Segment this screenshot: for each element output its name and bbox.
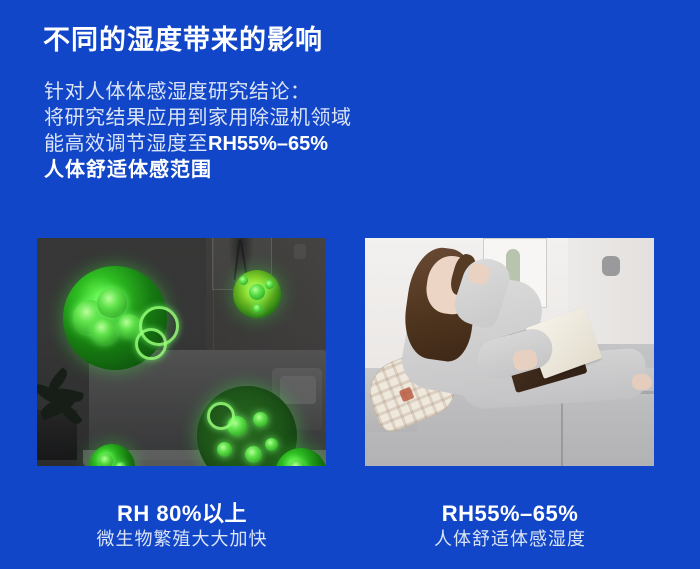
microbe-spore (265, 438, 278, 451)
intro-line-2: 将研究结果应用到家用除湿机领域 (44, 105, 352, 131)
caption-main-text: RH 80%以上 (32, 500, 332, 527)
microbe-ring (207, 402, 235, 430)
caption-comfort-humidity: RH55%–65% 人体舒适体感湿度 (360, 500, 660, 552)
caption-main-text: RH55%–65% (360, 500, 660, 527)
promo-poster: 不同的湿度带来的影响 针对人体体感湿度研究结论： 将研究结果应用到家用除湿机领域… (0, 0, 700, 569)
microbe-sphere-large (63, 266, 167, 370)
microbe-spore (217, 442, 232, 457)
intro-line-3: 能高效调节湿度至RH55%–65% (44, 131, 352, 157)
intro-humidity-range: RH55%–65% (208, 133, 328, 155)
wall-speaker-icon (602, 256, 620, 276)
microbe-spore (97, 288, 127, 318)
caption-high-humidity: RH 80%以上 微生物繁殖大大加快 (32, 500, 332, 552)
microbe-spore (115, 462, 126, 466)
microbe-spore (265, 280, 274, 289)
intro-line-1: 针对人体体感湿度研究结论： (44, 79, 352, 105)
caption-sub-text: 人体舒适体感湿度 (360, 527, 660, 552)
intro-line-3-prefix: 能高效调节湿度至 (44, 133, 208, 155)
microbe-spore (239, 276, 248, 285)
microbe-ring (135, 328, 167, 360)
microbe-spore (245, 446, 262, 463)
panel-image-comfort-humidity (365, 238, 654, 466)
pillow-motif (399, 387, 415, 403)
panel-image-high-humidity (37, 238, 326, 466)
microbe-spore (91, 318, 117, 344)
microbe-spore (253, 304, 262, 313)
intro-line-4: 人体舒适体感范围 (44, 157, 352, 183)
caption-sub-text: 微生物繁殖大大加快 (32, 527, 332, 552)
intro-paragraph: 针对人体体感湿度研究结论： 将研究结果应用到家用除湿机领域 能高效调节湿度至RH… (44, 79, 352, 183)
bright-room-scene (365, 238, 654, 466)
page-title: 不同的湿度带来的影响 (43, 18, 323, 57)
microbe-sphere-small (233, 270, 281, 318)
dark-room-scene (37, 238, 326, 466)
microbe-spore (289, 460, 305, 466)
person-foot (632, 374, 652, 390)
microbe-spore (99, 454, 113, 466)
microbe-spore (253, 412, 268, 427)
microbe-spore (249, 284, 265, 300)
